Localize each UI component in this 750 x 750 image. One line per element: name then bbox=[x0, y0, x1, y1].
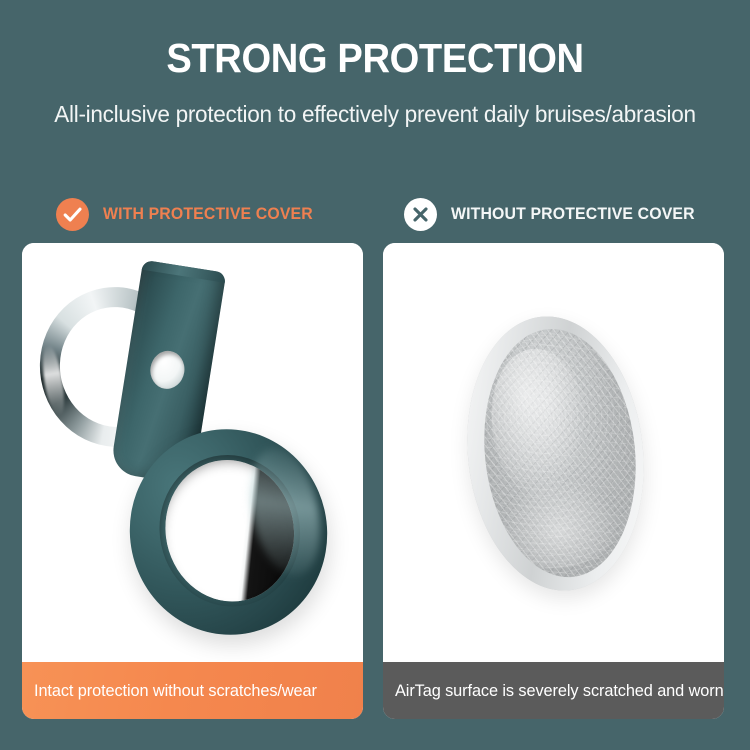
keychain-illustration bbox=[22, 243, 363, 662]
page-subtitle: All-inclusive protection to effectively … bbox=[15, 99, 735, 129]
caption-with-cover: Intact protection without scratches/wear bbox=[22, 662, 363, 719]
cross-circle-icon bbox=[404, 198, 437, 231]
comparison-panel-without-cover: AirTag surface is severely scratched and… bbox=[383, 243, 724, 719]
badge-with-cover: WITH PROTECTIVE COVER bbox=[56, 194, 322, 234]
worn-airtag-illustration bbox=[383, 243, 724, 662]
airtag-scratched-surface bbox=[472, 321, 647, 584]
strap-top-edge bbox=[142, 260, 227, 283]
caption-without-cover: AirTag surface is severely scratched and… bbox=[383, 662, 724, 719]
comparison-panel-with-cover: Intact protection without scratches/wear bbox=[22, 243, 363, 719]
comparison-badge-row: WITH PROTECTIVE COVER WITHOUT PROTECTIVE… bbox=[0, 194, 750, 234]
badge-without-cover-label: WITHOUT PROTECTIVE COVER bbox=[451, 205, 695, 224]
airtag-disc bbox=[454, 308, 657, 600]
product-feature-banner: STRONG PROTECTION All-inclusive protecti… bbox=[0, 0, 750, 750]
product-photo-keychain bbox=[22, 243, 363, 662]
caption-with-cover-text: Intact protection without scratches/wear bbox=[34, 681, 317, 701]
check-circle-icon bbox=[56, 198, 89, 231]
page-title: STRONG PROTECTION bbox=[26, 34, 724, 82]
strap-rivet-hole bbox=[148, 348, 188, 391]
badge-with-cover-label: WITH PROTECTIVE COVER bbox=[103, 205, 313, 224]
badge-without-cover: WITHOUT PROTECTIVE COVER bbox=[404, 194, 705, 234]
caption-without-cover-text: AirTag surface is severely scratched and… bbox=[395, 681, 724, 701]
product-photo-worn-airtag bbox=[383, 243, 724, 662]
